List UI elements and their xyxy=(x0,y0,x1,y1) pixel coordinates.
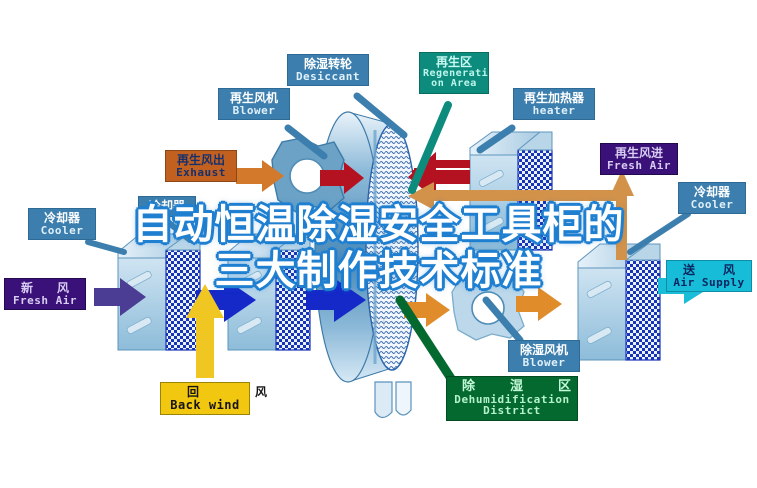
label-regeneration-heater-cn: 再生加热器 xyxy=(518,92,590,105)
label-cooler-right[interactable]: 冷却器 Cooler xyxy=(678,182,746,214)
label-back-wind-cn: 回 风 xyxy=(165,386,245,399)
label-air-supply[interactable]: 送 风 Air Supply xyxy=(666,260,752,292)
label-regeneration-blower-cn: 再生风机 xyxy=(223,92,285,105)
label-cooler-left-1-en: Cooler xyxy=(33,225,91,237)
label-fresh-air-intake[interactable]: 新 风 Fresh Air xyxy=(4,278,86,310)
label-fresh-air-intake-en: Fresh Air xyxy=(9,295,81,307)
label-regeneration-fresh-air-in-en: Fresh Air xyxy=(605,160,673,172)
label-air-supply-cn: 送 风 xyxy=(671,264,747,277)
label-dehumidification-district[interactable]: 除 湿 区 Dehumidification District xyxy=(446,376,578,421)
label-dehumidification-blower[interactable]: 除湿风机 Blower xyxy=(508,340,580,372)
supply-coil xyxy=(578,244,660,360)
label-back-wind[interactable]: 回 风 Back wind xyxy=(160,382,250,415)
label-regeneration-blower[interactable]: 再生风机 Blower xyxy=(218,88,290,120)
label-cooler-left-1[interactable]: 冷却器 Cooler xyxy=(28,208,96,240)
label-air-supply-en: Air Supply xyxy=(671,277,747,289)
label-exhaust[interactable]: 再生风出 Exhaust xyxy=(165,150,237,182)
label-regeneration-heater[interactable]: 再生加热器 heater xyxy=(513,88,595,120)
label-desiccant-wheel[interactable]: 除湿转轮 Desiccant xyxy=(287,54,369,86)
label-dehumidification-district-en-line2: District xyxy=(451,405,573,417)
label-regeneration-fresh-air-in[interactable]: 再生风进 Fresh Air xyxy=(600,143,678,175)
label-cooler-left-2[interactable]: 冷却器 xyxy=(138,196,196,217)
label-exhaust-en: Exhaust xyxy=(170,167,232,179)
label-fresh-air-intake-cn: 新 风 xyxy=(9,282,81,295)
label-dehumidification-blower-en: Blower xyxy=(513,357,575,369)
label-cooler-right-en: Cooler xyxy=(683,199,741,211)
dehumidifier-diagram: 除湿转轮 Desiccant 再生风机 Blower 再生区 Regenerat… xyxy=(0,0,757,488)
label-desiccant-wheel-cn: 除湿转轮 xyxy=(292,58,364,71)
label-regeneration-area-cn: 再生区 xyxy=(423,56,485,69)
label-dehumidification-district-cn: 除 湿 区 xyxy=(451,380,573,394)
label-regeneration-fresh-air-in-cn: 再生风进 xyxy=(605,147,673,160)
label-regeneration-blower-en: Blower xyxy=(223,105,285,117)
diagram-canvas xyxy=(0,0,757,488)
label-cooler-left-2-cn: 冷却器 xyxy=(143,200,191,213)
label-regeneration-area-en-line2: on Area xyxy=(423,79,485,90)
label-cooler-right-cn: 冷却器 xyxy=(683,186,741,199)
label-desiccant-wheel-en: Desiccant xyxy=(292,71,364,83)
label-regeneration-heater-en: heater xyxy=(518,105,590,117)
label-cooler-left-1-cn: 冷却器 xyxy=(33,212,91,225)
label-regeneration-area[interactable]: 再生区 Regenerati on Area xyxy=(419,52,489,94)
purge-duct xyxy=(375,382,411,418)
label-dehumidification-blower-cn: 除湿风机 xyxy=(513,344,575,357)
label-back-wind-en: Back wind xyxy=(165,399,245,412)
label-exhaust-cn: 再生风出 xyxy=(170,154,232,167)
